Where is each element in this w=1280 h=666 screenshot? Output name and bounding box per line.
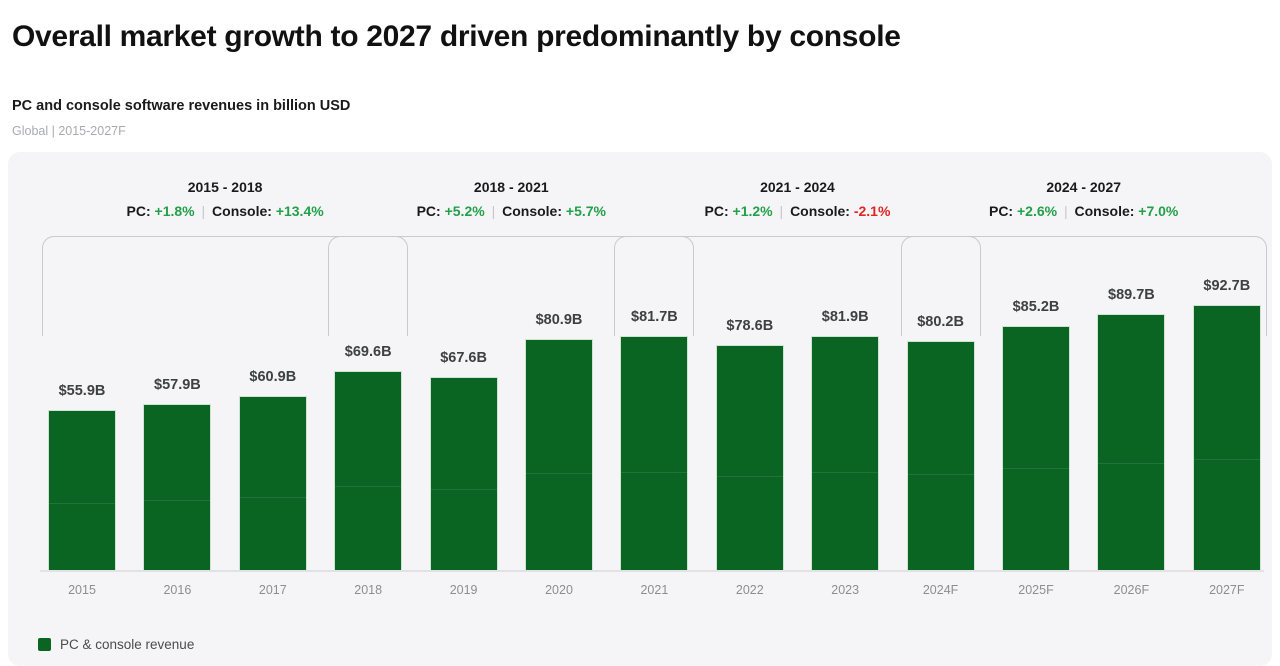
chart-panel: 2015 - 2018 PC: +1.8% | Console: +13.4% … — [8, 152, 1272, 666]
bar-segment-divider — [49, 503, 115, 504]
x-axis-line — [40, 570, 1264, 572]
bar-segment-divider — [240, 497, 306, 498]
bar-2027F[interactable] — [1193, 305, 1261, 570]
bar-segment-divider — [1194, 459, 1260, 460]
bar-2022[interactable] — [716, 345, 784, 570]
bar-2016[interactable] — [143, 404, 211, 570]
bar-2023[interactable] — [811, 336, 879, 570]
bar-segment-divider — [335, 486, 401, 487]
bar-2017[interactable] — [239, 396, 307, 570]
bar-segment-divider — [812, 472, 878, 473]
page-title: Overall market growth to 2027 driven pre… — [12, 20, 901, 54]
bar-segment-divider — [526, 473, 592, 474]
bar-segment-divider — [431, 489, 497, 490]
x-axis-tick-2027F: 2027F — [1167, 583, 1272, 597]
legend-item-label: PC & console revenue — [60, 637, 194, 652]
bar-2025F[interactable] — [1002, 326, 1070, 570]
chart-legend: PC & console revenue — [38, 637, 194, 652]
plot-area: $55.9B2015$57.9B2016$60.9B2017$69.6B2018… — [8, 152, 1272, 666]
bar-2018[interactable] — [334, 371, 402, 570]
bar-value-label-2017: $60.9B — [213, 369, 333, 385]
bar-value-label-2019: $67.6B — [404, 350, 524, 366]
bar-2015[interactable] — [48, 410, 116, 570]
bar-value-label-2024F: $80.2B — [881, 314, 1001, 330]
bar-2020[interactable] — [525, 339, 593, 570]
bar-segment-divider — [908, 474, 974, 475]
chart-page: Overall market growth to 2027 driven pre… — [0, 0, 1280, 666]
bar-segment-divider — [621, 472, 687, 473]
bar-segment-divider — [1098, 463, 1164, 464]
chart-subtitle: PC and console software revenues in bill… — [12, 98, 350, 114]
square-swatch-icon — [38, 638, 51, 651]
bar-2026F[interactable] — [1097, 314, 1165, 570]
chart-scope-label: Global | 2015-2027F — [12, 124, 126, 138]
bar-segment-divider — [1003, 468, 1069, 469]
bar-2024F[interactable] — [907, 341, 975, 570]
bar-segment-divider — [717, 476, 783, 477]
bar-2021[interactable] — [620, 336, 688, 570]
bar-segment-divider — [144, 500, 210, 501]
bar-2019[interactable] — [430, 377, 498, 570]
bar-value-label-2027F: $92.7B — [1167, 278, 1272, 294]
